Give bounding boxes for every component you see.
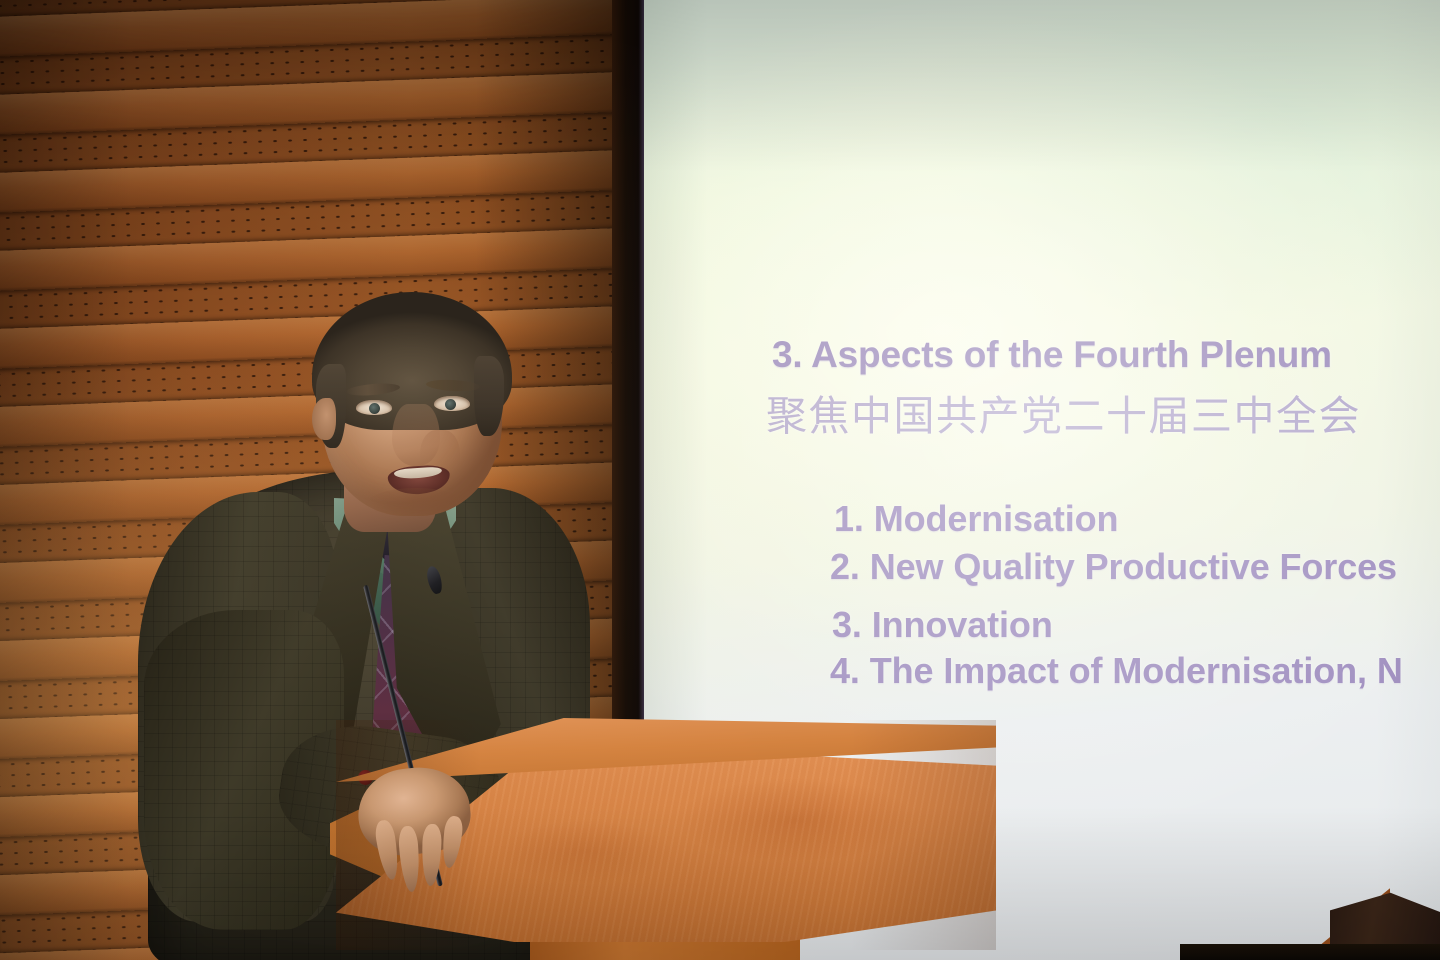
ear-left (312, 398, 336, 440)
slide-list-item: 4. The Impact of Modernisation, N (830, 650, 1403, 692)
photo-scene: 3. Aspects of the Fourth Plenum 聚焦中国共产党二… (0, 0, 1440, 960)
iris-right (445, 399, 456, 410)
slide-list-item: 1. Modernisation (834, 498, 1118, 540)
iris-left (369, 403, 380, 414)
slide-list-item: 2. New Quality Productive Forces (830, 546, 1397, 588)
chin-shadow (368, 488, 464, 518)
slide-title-chinese: 聚焦中国共产党二十届三中全会 (766, 382, 1361, 442)
laptop-base (1180, 944, 1440, 960)
slide-title: 3. Aspects of the Fourth Plenum (772, 334, 1332, 376)
slide-list-item: 3. Innovation (832, 604, 1053, 646)
